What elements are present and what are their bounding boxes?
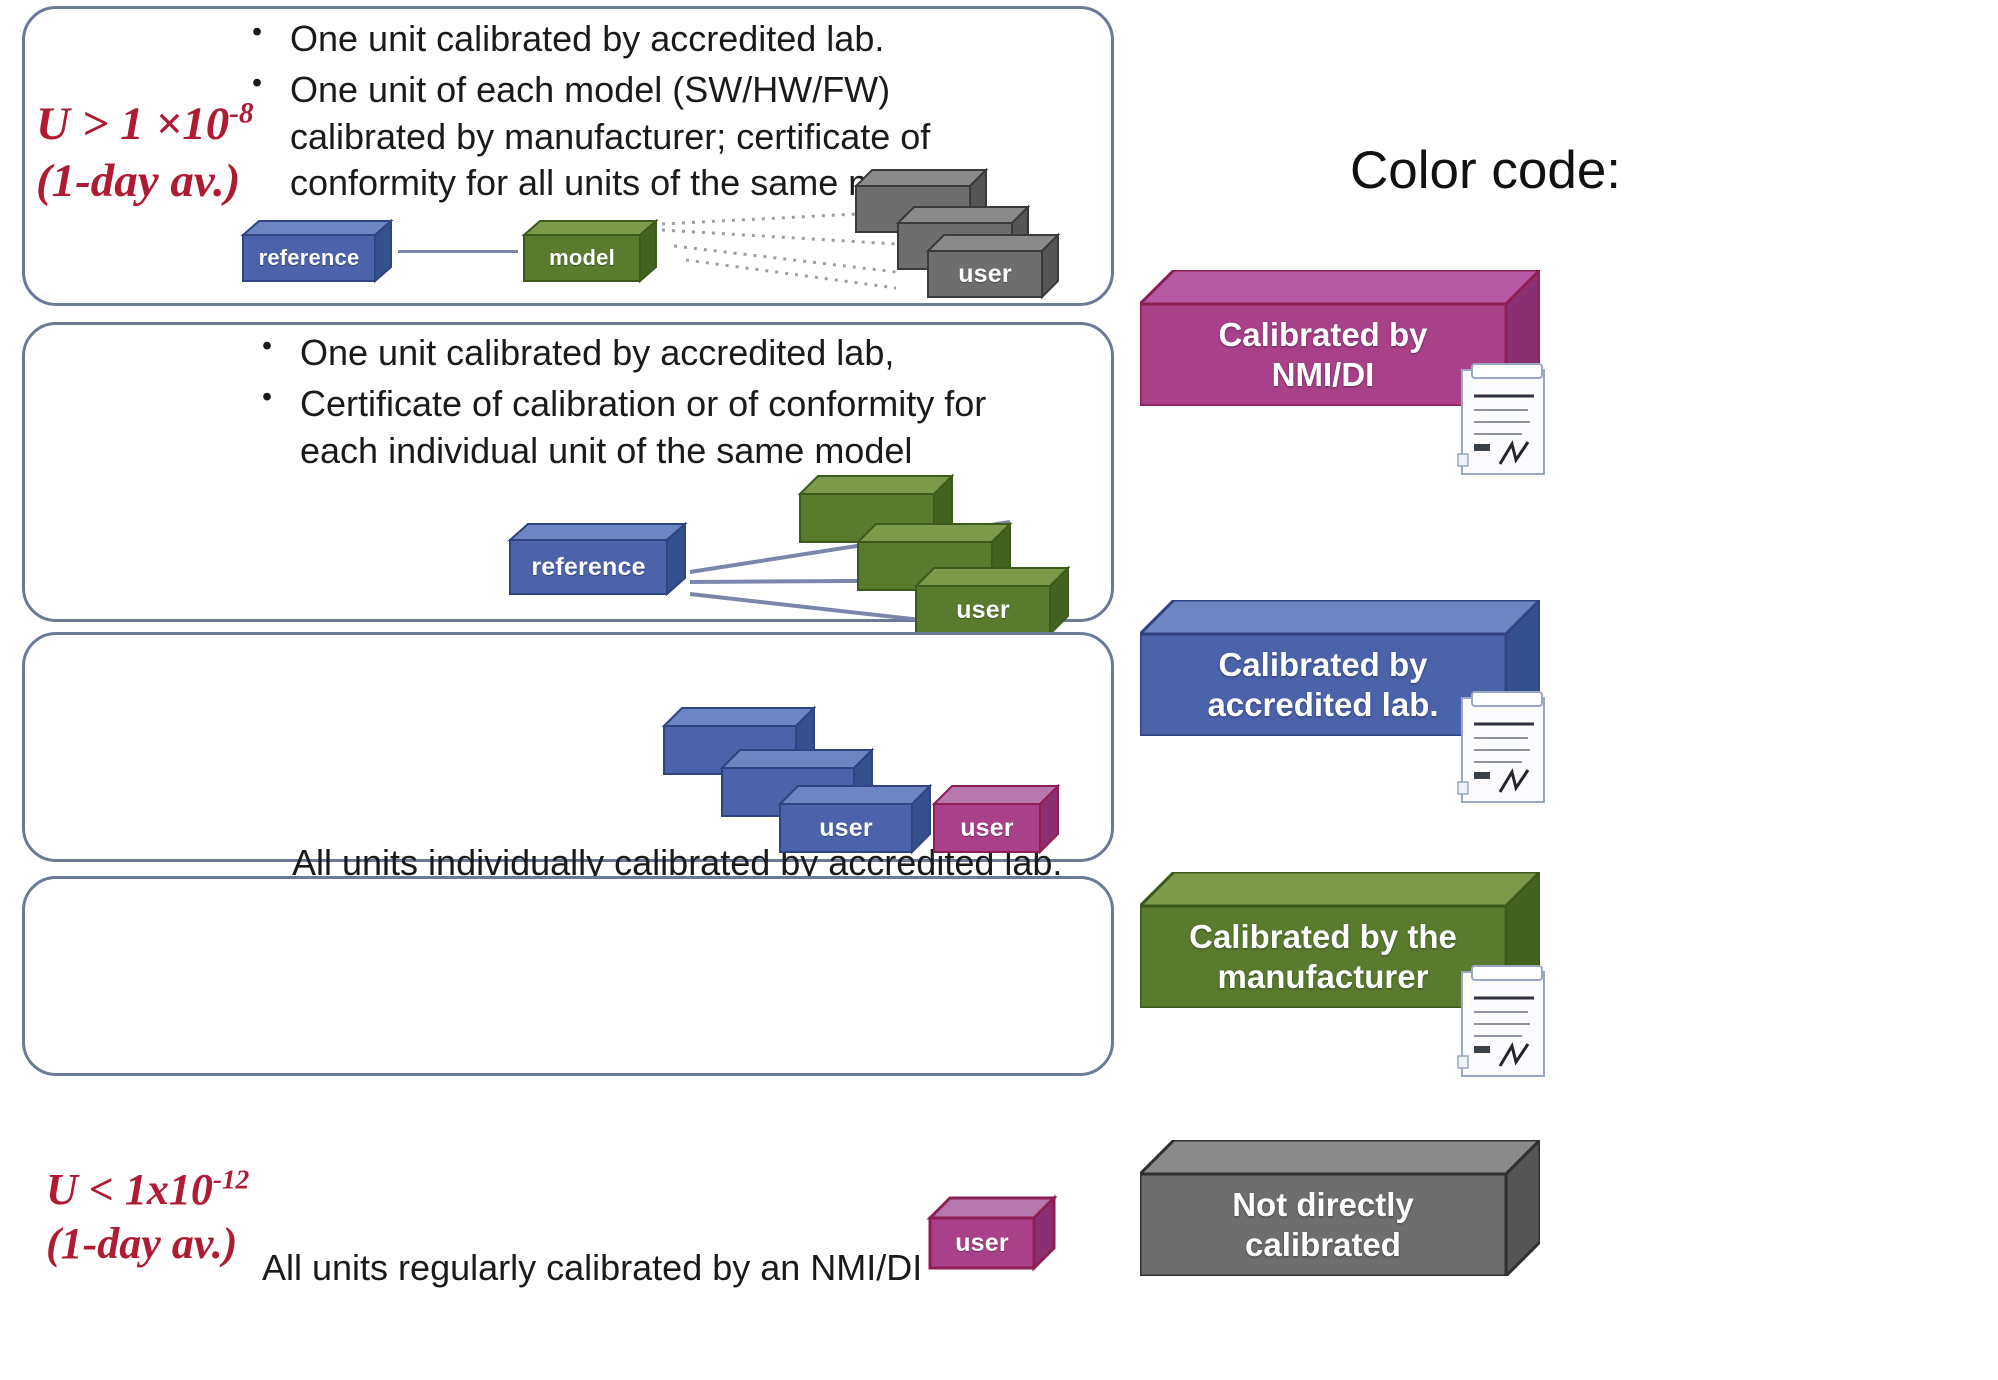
- legend-title: Color code:: [1350, 140, 1621, 201]
- box-label: user: [780, 804, 912, 852]
- formula-row-4-note: (1-day av.): [46, 1217, 249, 1271]
- text-row-4: All units regularly calibrated by an NMI…: [262, 1245, 922, 1292]
- box-reference-row-2[interactable]: reference: [510, 524, 685, 594]
- box-label: reference: [243, 235, 375, 281]
- formula-row-4-exponent: -12: [213, 1164, 249, 1194]
- box-user-row-1[interactable]: user: [928, 235, 1058, 297]
- formula-row-4-main-group: U < 1x10-12 (1-day av.): [46, 1163, 249, 1270]
- certificate-icon: [1456, 688, 1552, 808]
- legend-panel: Color code: Calibrated by NMI/DI Cali: [1130, 0, 1998, 1380]
- formula-row-1-note: (1-day av.): [36, 153, 254, 210]
- box-label: model: [524, 235, 640, 281]
- connector-reference-to-model: [398, 250, 518, 253]
- box-label: user: [930, 1218, 1034, 1268]
- box-3d-shape: [1140, 1140, 1540, 1276]
- formula-row-1: U > 1 ×10-8 (1-day av.): [36, 96, 254, 211]
- requirement-panel-row-4: [22, 876, 1114, 1076]
- box-label: reference: [510, 540, 667, 594]
- bullet-item: One unit calibrated by accredited lab,: [248, 330, 1038, 377]
- bullet-item: One unit calibrated by accredited lab.: [238, 16, 1018, 63]
- formula-row-1-main: U > 1 ×10: [36, 98, 229, 150]
- box-reference-row-1[interactable]: reference: [243, 221, 391, 281]
- certificate-icon: [1456, 360, 1552, 480]
- certificate-icon: [1456, 962, 1552, 1082]
- bullet-item: Certificate of calibration or of conform…: [248, 381, 1038, 475]
- box-label: user: [934, 804, 1040, 852]
- box-model-row-1[interactable]: model: [524, 221, 656, 281]
- legend-item-not-calibrated[interactable]: Not directly calibrated: [1140, 1140, 1540, 1276]
- bullets-row-2: One unit calibrated by accredited lab, C…: [248, 330, 1038, 478]
- formula-row-4-main: U < 1x10: [46, 1165, 213, 1214]
- box-label: user: [928, 251, 1042, 297]
- box-user-row-2[interactable]: user: [916, 568, 1068, 634]
- box-user-row-3[interactable]: user: [780, 786, 930, 852]
- box-user-nmi-row-3[interactable]: user: [934, 786, 1058, 852]
- box-user-row-4[interactable]: user: [930, 1198, 1054, 1268]
- box-label: user: [916, 586, 1050, 634]
